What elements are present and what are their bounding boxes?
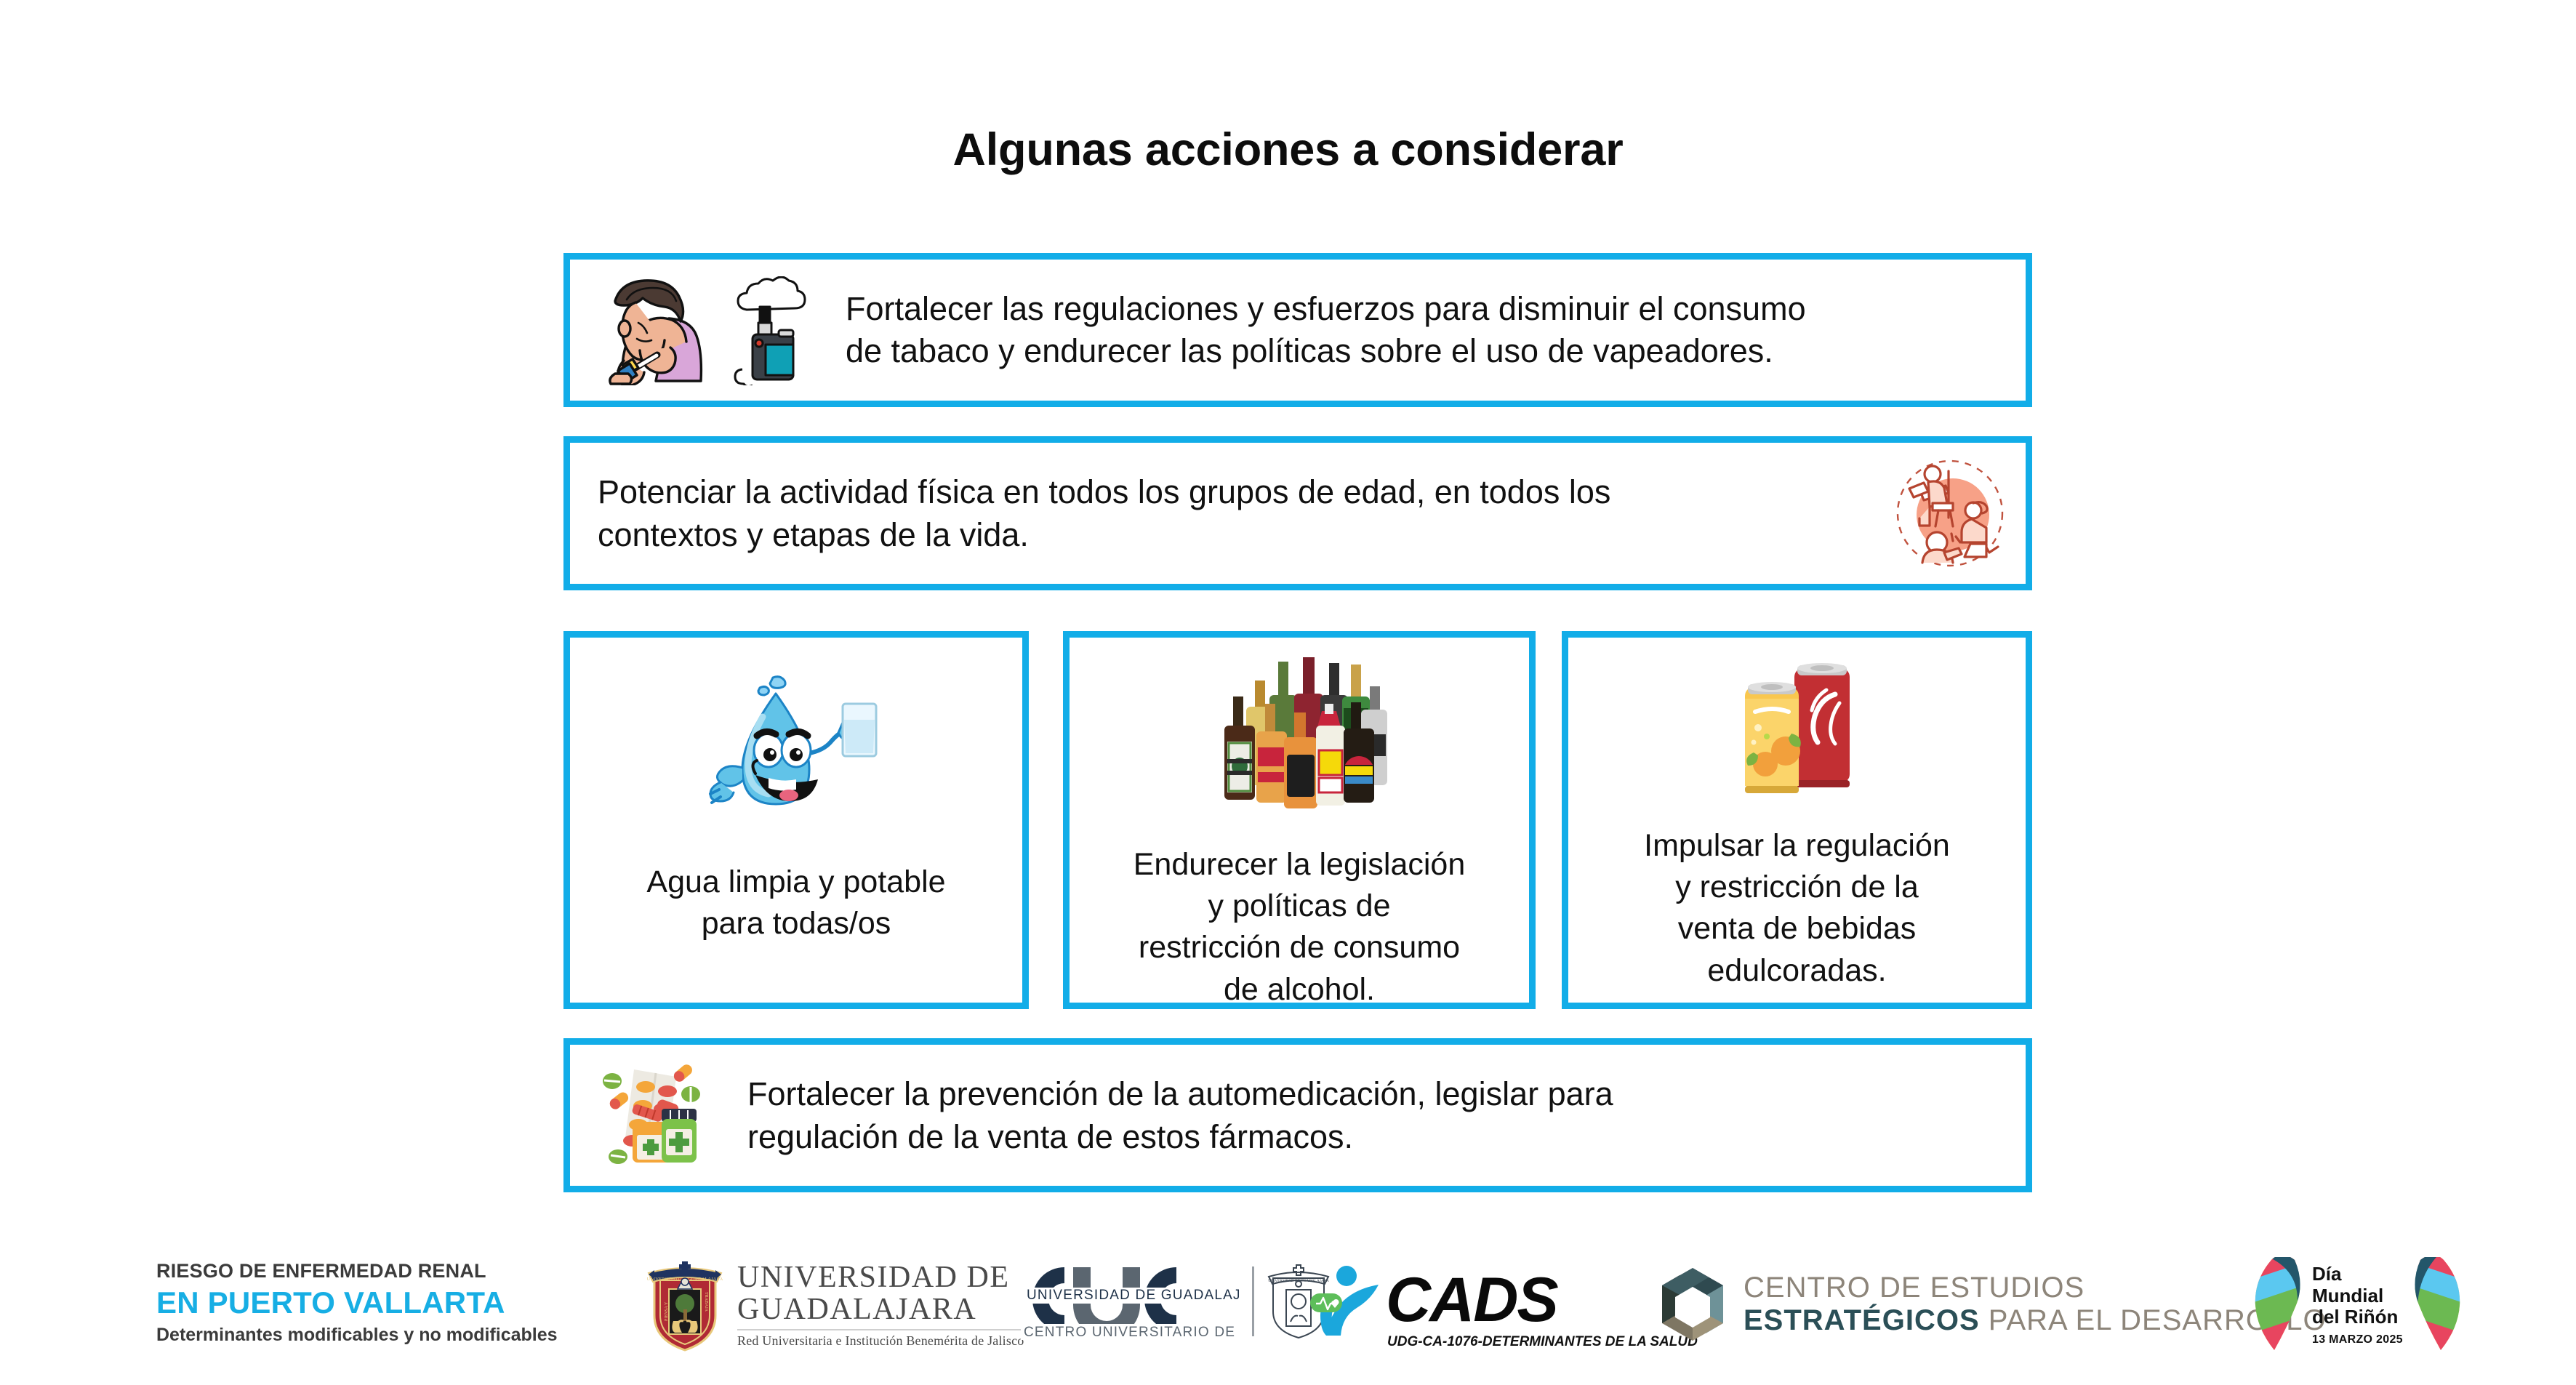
water-drop-mascot-icon [687, 666, 905, 848]
logo-dia-mundial-del-rinon: Día Mundial del Riñón 13 MARZO 2025 [2254, 1257, 2461, 1353]
bebidas-card-text: Impulsar la regulación y restricción de … [1580, 825, 2014, 992]
logo-centro-estudios-estrategicos: CENTRO DE ESTUDIOS ESTRATÉGICOS PARA EL … [1658, 1266, 2327, 1343]
tobacco-card-text: Fortalecer las regulaciones y esfuerzos … [809, 288, 2013, 373]
campaign-brand-block: RIESGO DE ENFERMEDAD RENAL EN PUERTO VAL… [156, 1260, 558, 1346]
alcohol-text-line-3: restricción de consumo [1081, 927, 1517, 968]
agua-art [687, 667, 905, 847]
action-card-farmacos: Fortalecer la prevención de la automedic… [563, 1038, 2032, 1192]
udg-crest-icon: PIENSA Y TRABAJA UNIVERSIDAD DE GUADALAJ… [647, 1258, 723, 1352]
ceed-line-2-bold: ESTRATÉGICOS [1744, 1304, 1980, 1336]
cuc-monogram-icon: UNIVERSIDAD DE GUADALAJARA CENTRO UNIVER… [1021, 1263, 1239, 1340]
udg-wordmark-line-2: GUADALAJARA [737, 1293, 1024, 1325]
wkd-left-kidney-icon [2254, 1257, 2302, 1353]
page-title: Algunas acciones a considerar [0, 124, 2576, 176]
ceed-line-2: ESTRATÉGICOS PARA EL DESARROLLO [1744, 1304, 2327, 1337]
alcohol-card-text: Endurecer la legislación y políticas de … [1081, 844, 1517, 1011]
brand-line-3: Determinantes modificables y no modifica… [156, 1325, 558, 1346]
footer-logo-bar: RIESGO DE ENFERMEDAD RENAL EN PUERTO VAL… [0, 1247, 2576, 1385]
sedentary-people-icon [1892, 455, 2008, 571]
slide-canvas: Algunas acciones a considerar [0, 0, 2576, 1385]
farmacos-text-line-2: regulación de la venta de estos fármacos… [747, 1115, 2013, 1158]
action-card-tobacco: Fortalecer las regulaciones y esfuerzos … [563, 253, 2032, 407]
alcohol-art [1208, 655, 1390, 822]
soda-cans-icon [1725, 658, 1870, 803]
actividad-text-line-1: Potenciar la actividad física en todos l… [598, 470, 1870, 513]
farmacos-text-line-1: Fortalecer la prevención de la automedic… [747, 1072, 2013, 1115]
cads-subtitle: UDG-CA-1076-DETERMINANTES DE LA SALUD [1387, 1334, 1698, 1350]
agua-text-line-2: para todas/os [582, 903, 1011, 944]
farmacos-card-text: Fortalecer la prevención de la automedic… [708, 1072, 2013, 1159]
tobacco-text-line-2: de tabaco y endurecer las políticas sobr… [846, 330, 2013, 373]
action-card-alcohol: Endurecer la legislación y políticas de … [1063, 631, 1536, 1009]
tobacco-icon-group [590, 275, 809, 385]
cads-figure-icon [1309, 1264, 1384, 1337]
tobacco-text-line-1: Fortalecer las regulaciones y esfuerzos … [846, 288, 2013, 331]
vape-device-icon [731, 276, 809, 385]
logo-centro-universitario-de-la-costa: UNIVERSIDAD DE GUADALAJARA CENTRO UNIVER… [1021, 1263, 1330, 1340]
agua-card-text: Agua limpia y potable para todas/os [582, 862, 1011, 944]
alcohol-text-line-2: y políticas de [1081, 886, 1517, 927]
action-card-actividad-fisica: Potenciar la actividad física en todos l… [563, 436, 2032, 590]
action-card-bebidas: Impulsar la regulación y restricción de … [1562, 631, 2032, 1009]
alcohol-bottles-icon [1208, 656, 1390, 822]
ceed-line-1: CENTRO DE ESTUDIOS [1744, 1272, 2327, 1304]
svg-text:CENTRO UNIVERSITARIO DE LA COS: CENTRO UNIVERSITARIO DE LA COSTA [1024, 1325, 1239, 1340]
udg-tagline: Red Universitaria e Institución Beneméri… [737, 1333, 1024, 1349]
cuc-divider [1252, 1266, 1254, 1336]
alcohol-text-line-4: de alcohol. [1081, 969, 1517, 1011]
bebidas-text-line-1: Impulsar la regulación [1580, 825, 2014, 867]
smoking-person-icon [590, 275, 718, 385]
bebidas-text-line-3: venta de bebidas [1580, 908, 2014, 950]
wkd-right-kidney-icon [2413, 1257, 2461, 1353]
bebidas-text-line-2: y restricción de la [1580, 867, 2014, 908]
action-card-agua: Agua limpia y potable para todas/os [563, 631, 1029, 1009]
actividad-card-text: Potenciar la actividad física en todos l… [598, 470, 1892, 557]
cads-wordmark: CADS [1386, 1272, 1557, 1329]
logo-cads: CADS UDG-CA-1076-DETERMINANTES DE LA SAL… [1309, 1264, 1698, 1350]
agua-text-line-1: Agua limpia y potable [582, 862, 1011, 903]
wkd-line-3: del Riñón [2312, 1306, 2403, 1328]
svg-text:PIENSA Y: PIENSA Y [665, 1301, 669, 1321]
wkd-line-1: Día [2312, 1264, 2403, 1285]
udg-wordmark-line-1: UNIVERSIDAD DE [737, 1261, 1024, 1293]
bebidas-text-line-4: edulcoradas. [1580, 950, 2014, 992]
ceed-hexagon-icon [1658, 1266, 1728, 1343]
actividad-text-line-2: contextos y etapas de la vida. [598, 513, 1870, 556]
wkd-line-2: Mundial [2312, 1285, 2403, 1307]
brand-line-2: EN PUERTO VALLARTA [156, 1285, 505, 1320]
bebidas-art [1725, 658, 1870, 803]
medicines-pills-icon [601, 1061, 708, 1170]
alcohol-text-line-1: Endurecer la legislación [1081, 844, 1517, 886]
svg-text:TRABAJA: TRABAJA [704, 1292, 708, 1312]
logo-universidad-de-guadalajara: PIENSA Y TRABAJA UNIVERSIDAD DE GUADALAJ… [647, 1258, 1024, 1352]
udg-divider-rule [737, 1329, 1024, 1330]
brand-line-1: RIESGO DE ENFERMEDAD RENAL [156, 1260, 486, 1282]
svg-text:UNIVERSIDAD DE GUADALAJARA: UNIVERSIDAD DE GUADALAJARA [1027, 1288, 1239, 1303]
wkd-date: 13 MARZO 2025 [2312, 1333, 2403, 1346]
